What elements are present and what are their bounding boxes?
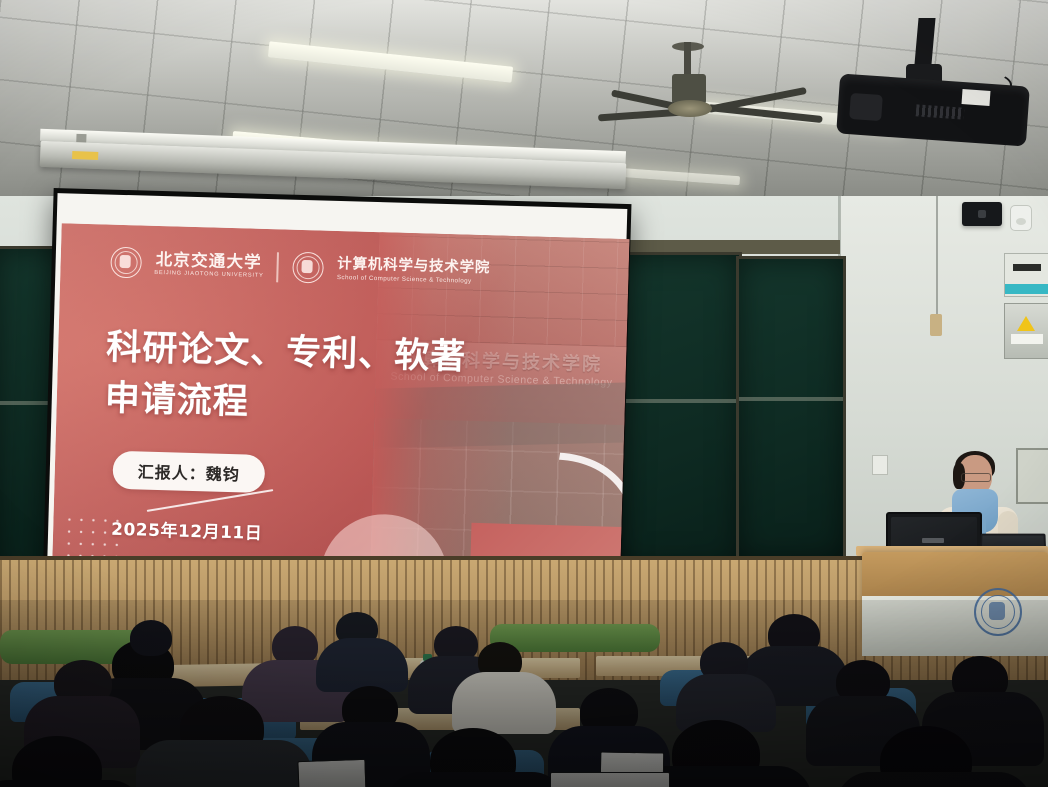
audience-body bbox=[0, 780, 144, 787]
slide-date: 2025年12月11日 bbox=[111, 515, 263, 544]
monitor-brand-label bbox=[922, 538, 944, 543]
university-name: 北京交通大学 BEIJING JIAOTONG UNIVERSITY bbox=[155, 251, 263, 279]
hanging-tag bbox=[930, 314, 942, 336]
ceiling-projector-icon bbox=[838, 18, 1028, 138]
projector-lens bbox=[849, 93, 883, 121]
equipment-strip bbox=[1005, 284, 1048, 294]
wall-speaker-icon bbox=[962, 202, 1002, 226]
equipment-box bbox=[1004, 253, 1048, 297]
fan-hub bbox=[668, 100, 712, 117]
projector-label bbox=[962, 89, 991, 106]
audience-body bbox=[136, 740, 312, 787]
equipment-slot bbox=[1013, 264, 1041, 271]
audience-area bbox=[0, 612, 1048, 787]
camera-lens bbox=[1016, 218, 1026, 225]
school-seal-icon bbox=[292, 252, 324, 284]
ceiling-fan-icon bbox=[612, 42, 842, 152]
roller-yellow-label bbox=[72, 151, 98, 160]
chalk-rail bbox=[611, 399, 739, 403]
audience-body bbox=[386, 772, 566, 787]
audience-head bbox=[130, 620, 172, 656]
speaker-grille bbox=[978, 210, 986, 218]
slide-title-line2: 申请流程 bbox=[104, 373, 465, 434]
warning-triangle-icon bbox=[1017, 316, 1035, 331]
blackboard-right bbox=[736, 256, 846, 562]
panel-label bbox=[1011, 334, 1043, 344]
school-name: 计算机科学与技术学院 School of Computer Science & … bbox=[337, 256, 491, 284]
audience-laptop bbox=[297, 759, 366, 787]
electrical-panel bbox=[1004, 303, 1048, 359]
wall-outlet-plate bbox=[872, 455, 888, 475]
university-name-en: BEIJING JIAOTONG UNIVERSITY bbox=[154, 270, 263, 279]
audience-body bbox=[836, 772, 1032, 787]
lecture-hall-photo: 计算机科学与技术学院 School of Computer Science & … bbox=[0, 0, 1048, 787]
fan-rod bbox=[684, 42, 691, 76]
presenter-glasses-icon bbox=[961, 473, 991, 482]
university-seal-icon bbox=[110, 247, 142, 279]
screen-surface: 计算机科学与技术学院 School of Computer Science & … bbox=[47, 193, 628, 599]
school-name-cn: 计算机科学与技术学院 bbox=[337, 256, 490, 275]
audience-laptop bbox=[550, 772, 670, 787]
security-camera-icon bbox=[1010, 205, 1032, 231]
logo-divider bbox=[276, 252, 278, 282]
projection-screen[interactable]: 计算机科学与技术学院 School of Computer Science & … bbox=[43, 188, 632, 604]
presentation-slide: 计算机科学与技术学院 School of Computer Science & … bbox=[52, 223, 630, 597]
university-name-cn: 北京交通大学 bbox=[156, 251, 264, 271]
hanging-cord bbox=[936, 196, 938, 316]
presenter-badge: 汇报人：魏钧 bbox=[112, 451, 265, 493]
wall-frame-box bbox=[1016, 448, 1048, 504]
audience-body bbox=[452, 672, 556, 734]
chalk-rail bbox=[739, 397, 843, 401]
slide-title: 科研论文、专利、软著 申请流程 bbox=[104, 323, 467, 435]
audience-body bbox=[316, 638, 408, 692]
